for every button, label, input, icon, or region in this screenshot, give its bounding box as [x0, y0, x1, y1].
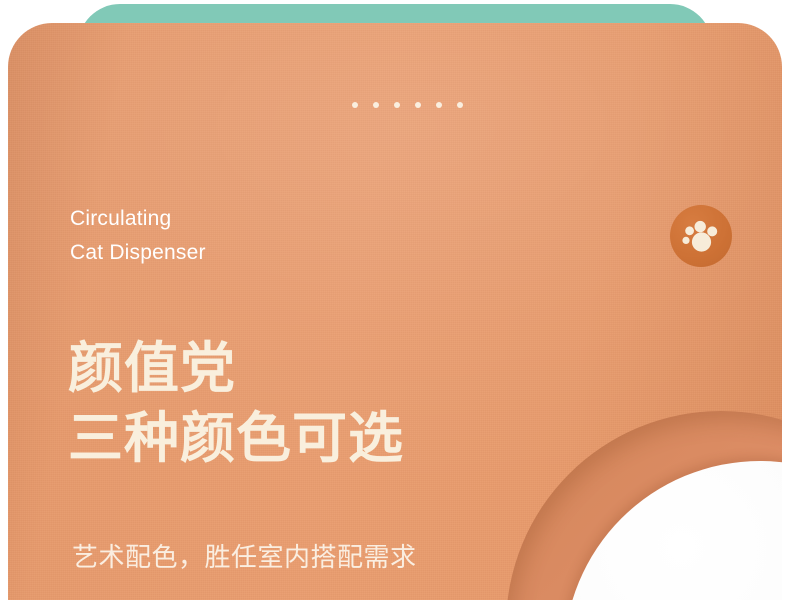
- decor-dot: [352, 102, 358, 108]
- dot-row-decoration: [352, 102, 463, 108]
- english-product-title: Circulating Cat Dispenser: [70, 202, 206, 270]
- decor-dot: [394, 102, 400, 108]
- orange-product-panel: Circulating Cat Dispenser 颜值党 三种颜色可选 艺术配…: [8, 23, 782, 600]
- paw-print-icon: [670, 205, 732, 267]
- headline: 颜值党 三种颜色可选: [68, 333, 404, 473]
- headline-line-1: 颜值党: [68, 333, 404, 403]
- subtitle: 艺术配色，胜任室内搭配需求: [72, 541, 417, 575]
- headline-line-2: 三种颜色可选: [68, 403, 404, 473]
- decor-dot: [373, 102, 379, 108]
- product-banner: Circulating Cat Dispenser 颜值党 三种颜色可选 艺术配…: [0, 0, 790, 600]
- decor-dot: [457, 102, 463, 108]
- decor-dot: [436, 102, 442, 108]
- decor-dot: [415, 102, 421, 108]
